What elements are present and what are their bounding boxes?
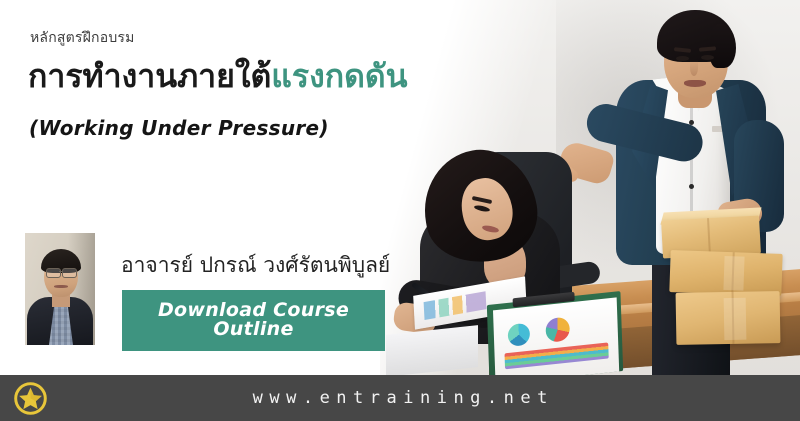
course-title: การทำงานภายใต้แรงกดดัน <box>28 56 408 96</box>
footer-bar: www.entraining.net <box>0 375 800 421</box>
course-title-primary: การทำงานภายใต้ <box>28 57 271 95</box>
manager-mouth <box>684 80 706 87</box>
download-course-outline-button[interactable]: Download Course Outline <box>122 290 385 351</box>
website-url[interactable]: www.entraining.net <box>0 375 800 421</box>
manager-eye-left <box>676 56 689 61</box>
glasses-lens-left <box>46 268 61 278</box>
pie-chart-two <box>545 316 570 343</box>
clipboard-report <box>493 297 619 378</box>
office-scene-photo <box>380 0 800 378</box>
clipboard <box>487 291 623 378</box>
course-kicker-label: หลักสูตรฝึกอบรม <box>30 30 135 47</box>
box-tape <box>724 298 747 340</box>
course-promo-banner: หลักสูตรฝึกอบรม การทำงานภายใต้แรงกดดัน (… <box>0 0 800 421</box>
avatar <box>25 233 95 345</box>
headshot-mouth <box>54 285 68 288</box>
instructor-block: อาจารย์ ปกรณ์ วงศ์รัตนพิบูลย์ Download C… <box>25 233 385 353</box>
cardboard-box-middle <box>669 250 782 296</box>
bar-chart-strips <box>505 342 609 369</box>
document-chart <box>424 291 487 320</box>
glasses-bridge <box>59 271 63 272</box>
text-content-panel: หลักสูตรฝึกอบรม การทำงานภายใต้แรงกดดัน (… <box>0 0 430 378</box>
manager-eye-right <box>701 55 714 60</box>
pie-chart-one <box>508 323 531 347</box>
cardboard-box-bottom <box>676 291 781 345</box>
manager-nose <box>690 60 698 76</box>
course-subtitle-english: (Working Under Pressure) <box>29 116 329 140</box>
box-tape <box>723 256 744 291</box>
shirt-button <box>689 184 694 189</box>
glasses-lens-right <box>62 268 77 278</box>
instructor-name: อาจารย์ ปกรณ์ วงศ์รัตนพิบูลย์ <box>121 249 390 282</box>
course-title-accent: แรงกดดัน <box>271 57 407 95</box>
